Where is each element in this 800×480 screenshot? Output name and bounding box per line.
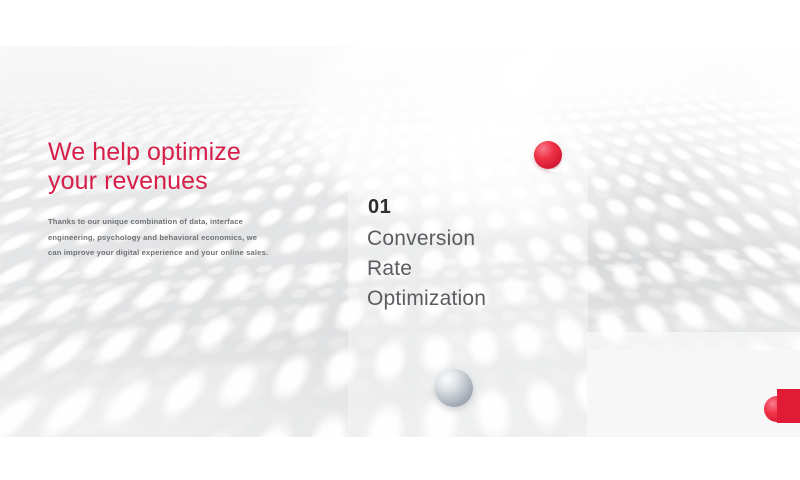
panel-seam: [587, 46, 588, 350]
headline-line-1: We help optimize: [48, 138, 241, 167]
feature-title-line-2: Rate: [367, 254, 486, 284]
slide-canvas: We help optimize your revenues Thanks to…: [0, 0, 800, 480]
feature-title-line-1: Conversion: [367, 224, 486, 254]
right-light-panel: [587, 350, 800, 437]
gray-sphere-icon: [435, 369, 473, 407]
feature-title: Conversion Rate Optimization: [367, 224, 486, 314]
frame-band-top: [0, 0, 800, 46]
body-line-1: Thanks to our unique combination of data…: [48, 214, 273, 230]
body-line-3: can improve your digital experience and …: [48, 245, 273, 261]
red-square-icon: [777, 389, 800, 423]
feature-number: 01: [368, 196, 391, 219]
headline-line-2: your revenues: [48, 167, 241, 196]
frame-band-bottom: [0, 437, 800, 480]
red-sphere-icon: [534, 141, 562, 169]
body-line-2: engineering, psychology and behavioral e…: [48, 230, 273, 246]
panel-right-top-strip: [587, 332, 800, 350]
body-paragraph: Thanks to our unique combination of data…: [48, 214, 273, 261]
page-title: We help optimize your revenues: [48, 138, 241, 196]
feature-title-line-3: Optimization: [367, 284, 486, 314]
